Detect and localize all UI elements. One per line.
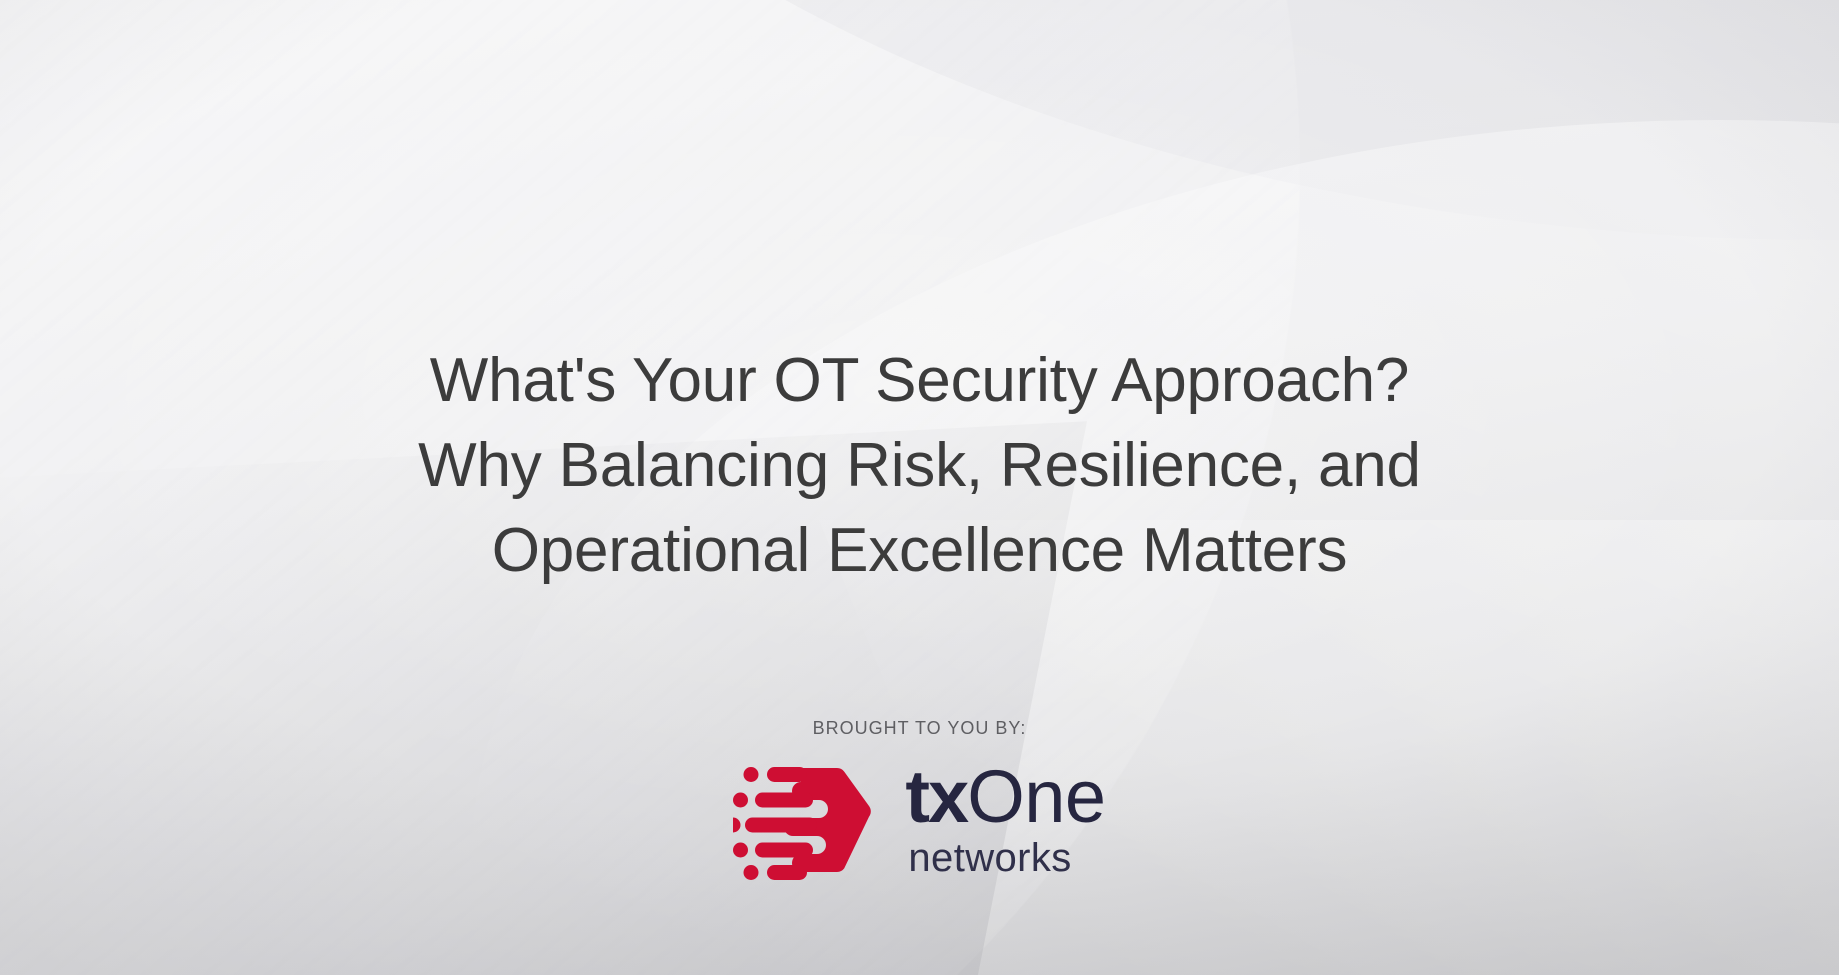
sponsor-logo: txOne networks bbox=[0, 760, 1839, 880]
page-title: What's Your OT Security Approach? Why Ba… bbox=[0, 339, 1839, 594]
logo-lockup-inner: txOne networks bbox=[733, 760, 1105, 880]
title-slide: What's Your OT Security Approach? Why Ba… bbox=[0, 0, 1839, 975]
title-line-3: Operational Excellence Matters bbox=[120, 509, 1719, 594]
slide-content: What's Your OT Security Approach? Why Ba… bbox=[0, 0, 1839, 975]
wordmark-txone-line: txOne bbox=[905, 762, 1105, 832]
sponsor-credit-label: BROUGHT TO YOU BY: bbox=[813, 718, 1027, 738]
wordmark-one: One bbox=[967, 755, 1105, 838]
txone-wordmark: txOne networks bbox=[905, 762, 1105, 878]
wordmark-networks: networks bbox=[908, 838, 1071, 878]
wordmark-tx: tx bbox=[905, 755, 967, 838]
txone-arrow-mark-icon bbox=[733, 760, 883, 880]
sponsor-credit: BROUGHT TO YOU BY: bbox=[0, 718, 1839, 739]
title-line-2: Why Balancing Risk, Resilience, and bbox=[120, 424, 1719, 509]
title-line-1: What's Your OT Security Approach? bbox=[120, 339, 1719, 424]
